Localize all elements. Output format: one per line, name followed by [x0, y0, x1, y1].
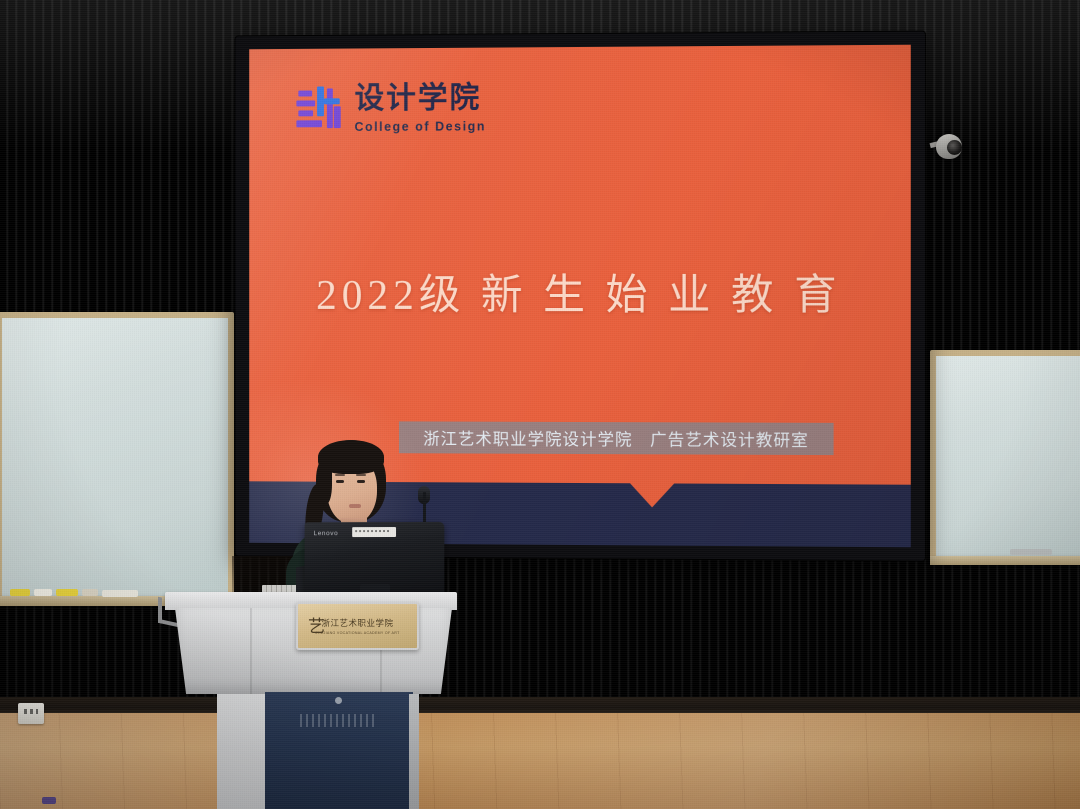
podium-vent-slots — [300, 714, 378, 727]
podium-base-side — [217, 694, 269, 809]
plaque-emblem: 艺 — [308, 616, 326, 638]
college-of-design-logo-icon — [296, 86, 341, 130]
marker — [10, 589, 30, 596]
slide-title: 2022级 新 生 始 业 教 育 — [249, 261, 911, 323]
slide-logo: 设计学院 College of Design — [296, 84, 486, 134]
floor-reflection — [0, 713, 1080, 809]
logo-wordmark: 设计学院 College of Design — [355, 84, 487, 134]
plaque-name-en: ZHEJIANG VOCATIONAL ACADEMY OF ART — [315, 631, 399, 635]
whiteboard-left — [0, 312, 234, 602]
slide-subtitle-bar: 浙江艺术职业学院设计学院 广告艺术设计教研室 — [399, 421, 834, 455]
whiteboard-eraser — [1010, 549, 1052, 555]
presenter-hair-side — [318, 456, 332, 504]
laptop-brand-label: Lenovo — [314, 530, 339, 537]
marker — [34, 589, 52, 596]
floor-object — [42, 797, 56, 804]
podium-lock-icon — [335, 697, 342, 704]
presenter-mouth — [349, 504, 361, 508]
podium-panel-seam — [250, 608, 252, 694]
whiteboard-tray-right — [930, 556, 1080, 565]
presenter-eyebrow — [335, 474, 345, 476]
wall-power-outlet — [18, 703, 44, 724]
presenter-eye — [357, 480, 365, 483]
laptop-asset-sticker — [352, 527, 396, 537]
presenter-eyebrow — [356, 474, 366, 476]
podium-base-edge — [409, 694, 419, 809]
podium-plaque: 艺 浙江艺术职业学院 ZHEJIANG VOCATIONAL ACADEMY O… — [296, 602, 419, 650]
podium-base-front — [265, 692, 413, 809]
slide-subtitle-text: 浙江艺术职业学院设计学院 广告艺术设计教研室 — [423, 425, 809, 451]
security-camera-icon — [930, 132, 966, 162]
logo-name-en: College of Design — [355, 120, 487, 133]
slide-chevron-notch — [630, 483, 674, 507]
plaque-name-cn: 浙江艺术职业学院 — [321, 617, 393, 629]
camera-lens — [947, 140, 962, 155]
whiteboard-right — [930, 350, 1080, 562]
marker — [56, 589, 78, 596]
presenter-eye — [336, 480, 344, 483]
lecture-hall-photo: 设计学院 College of Design 2022级 新 生 始 业 教 育… — [0, 0, 1080, 809]
presenter-laptop: Lenovo — [304, 522, 444, 598]
whiteboard-eraser — [102, 590, 138, 597]
logo-name-cn: 设计学院 — [355, 84, 487, 115]
marker — [82, 589, 98, 596]
